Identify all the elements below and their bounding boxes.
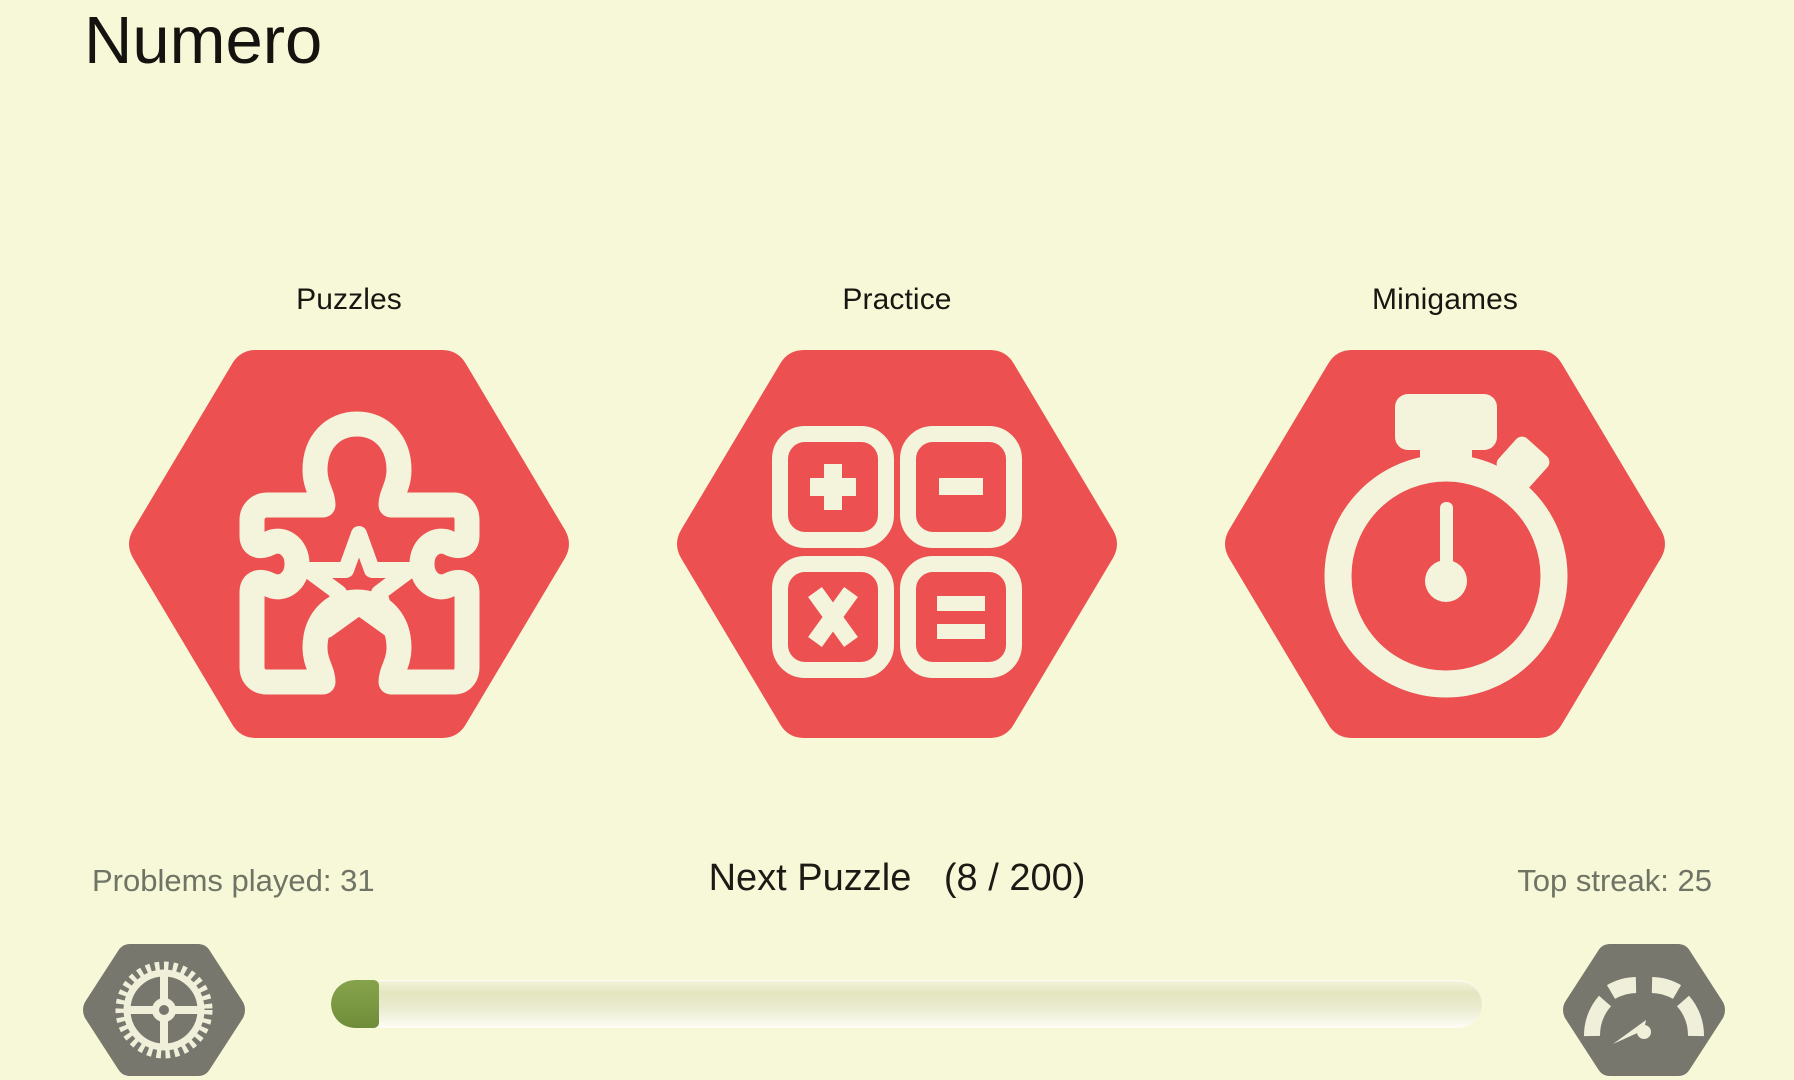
status-row: Problems played: 31 Next Puzzle (8 / 200… (0, 862, 1794, 916)
hexagon-shape (677, 350, 1117, 738)
tile-puzzles-label: Puzzles (296, 285, 402, 315)
progress-bar-fill (331, 980, 379, 1028)
tile-puzzles-hexagon[interactable] (119, 334, 579, 754)
tile-practice-hexagon[interactable] (667, 334, 1127, 754)
tile-minigames-label: Minigames (1372, 285, 1518, 315)
bottom-controls (0, 940, 1794, 1080)
tile-puzzles[interactable]: Puzzles (119, 285, 579, 754)
settings-button[interactable] (80, 940, 248, 1080)
page-title: Numero (84, 6, 322, 76)
tile-minigames-hexagon[interactable] (1215, 334, 1675, 754)
hexagon-shape (1563, 944, 1725, 1076)
difficulty-button[interactable] (1560, 940, 1728, 1080)
top-streak-label: Top streak: 25 (1517, 862, 1712, 899)
mode-tiles: Puzzles Practice (0, 285, 1794, 755)
tile-practice[interactable]: Practice (667, 285, 1127, 754)
next-puzzle-fraction: (8 / 200) (944, 857, 1086, 899)
tile-minigames[interactable]: Minigames (1215, 285, 1675, 754)
next-puzzle-label: Next Puzzle (709, 857, 912, 899)
game-home-screen: Numero Puzzles Practice (0, 0, 1794, 1080)
tile-practice-label: Practice (842, 285, 951, 315)
progress-bar[interactable] (331, 980, 1482, 1028)
